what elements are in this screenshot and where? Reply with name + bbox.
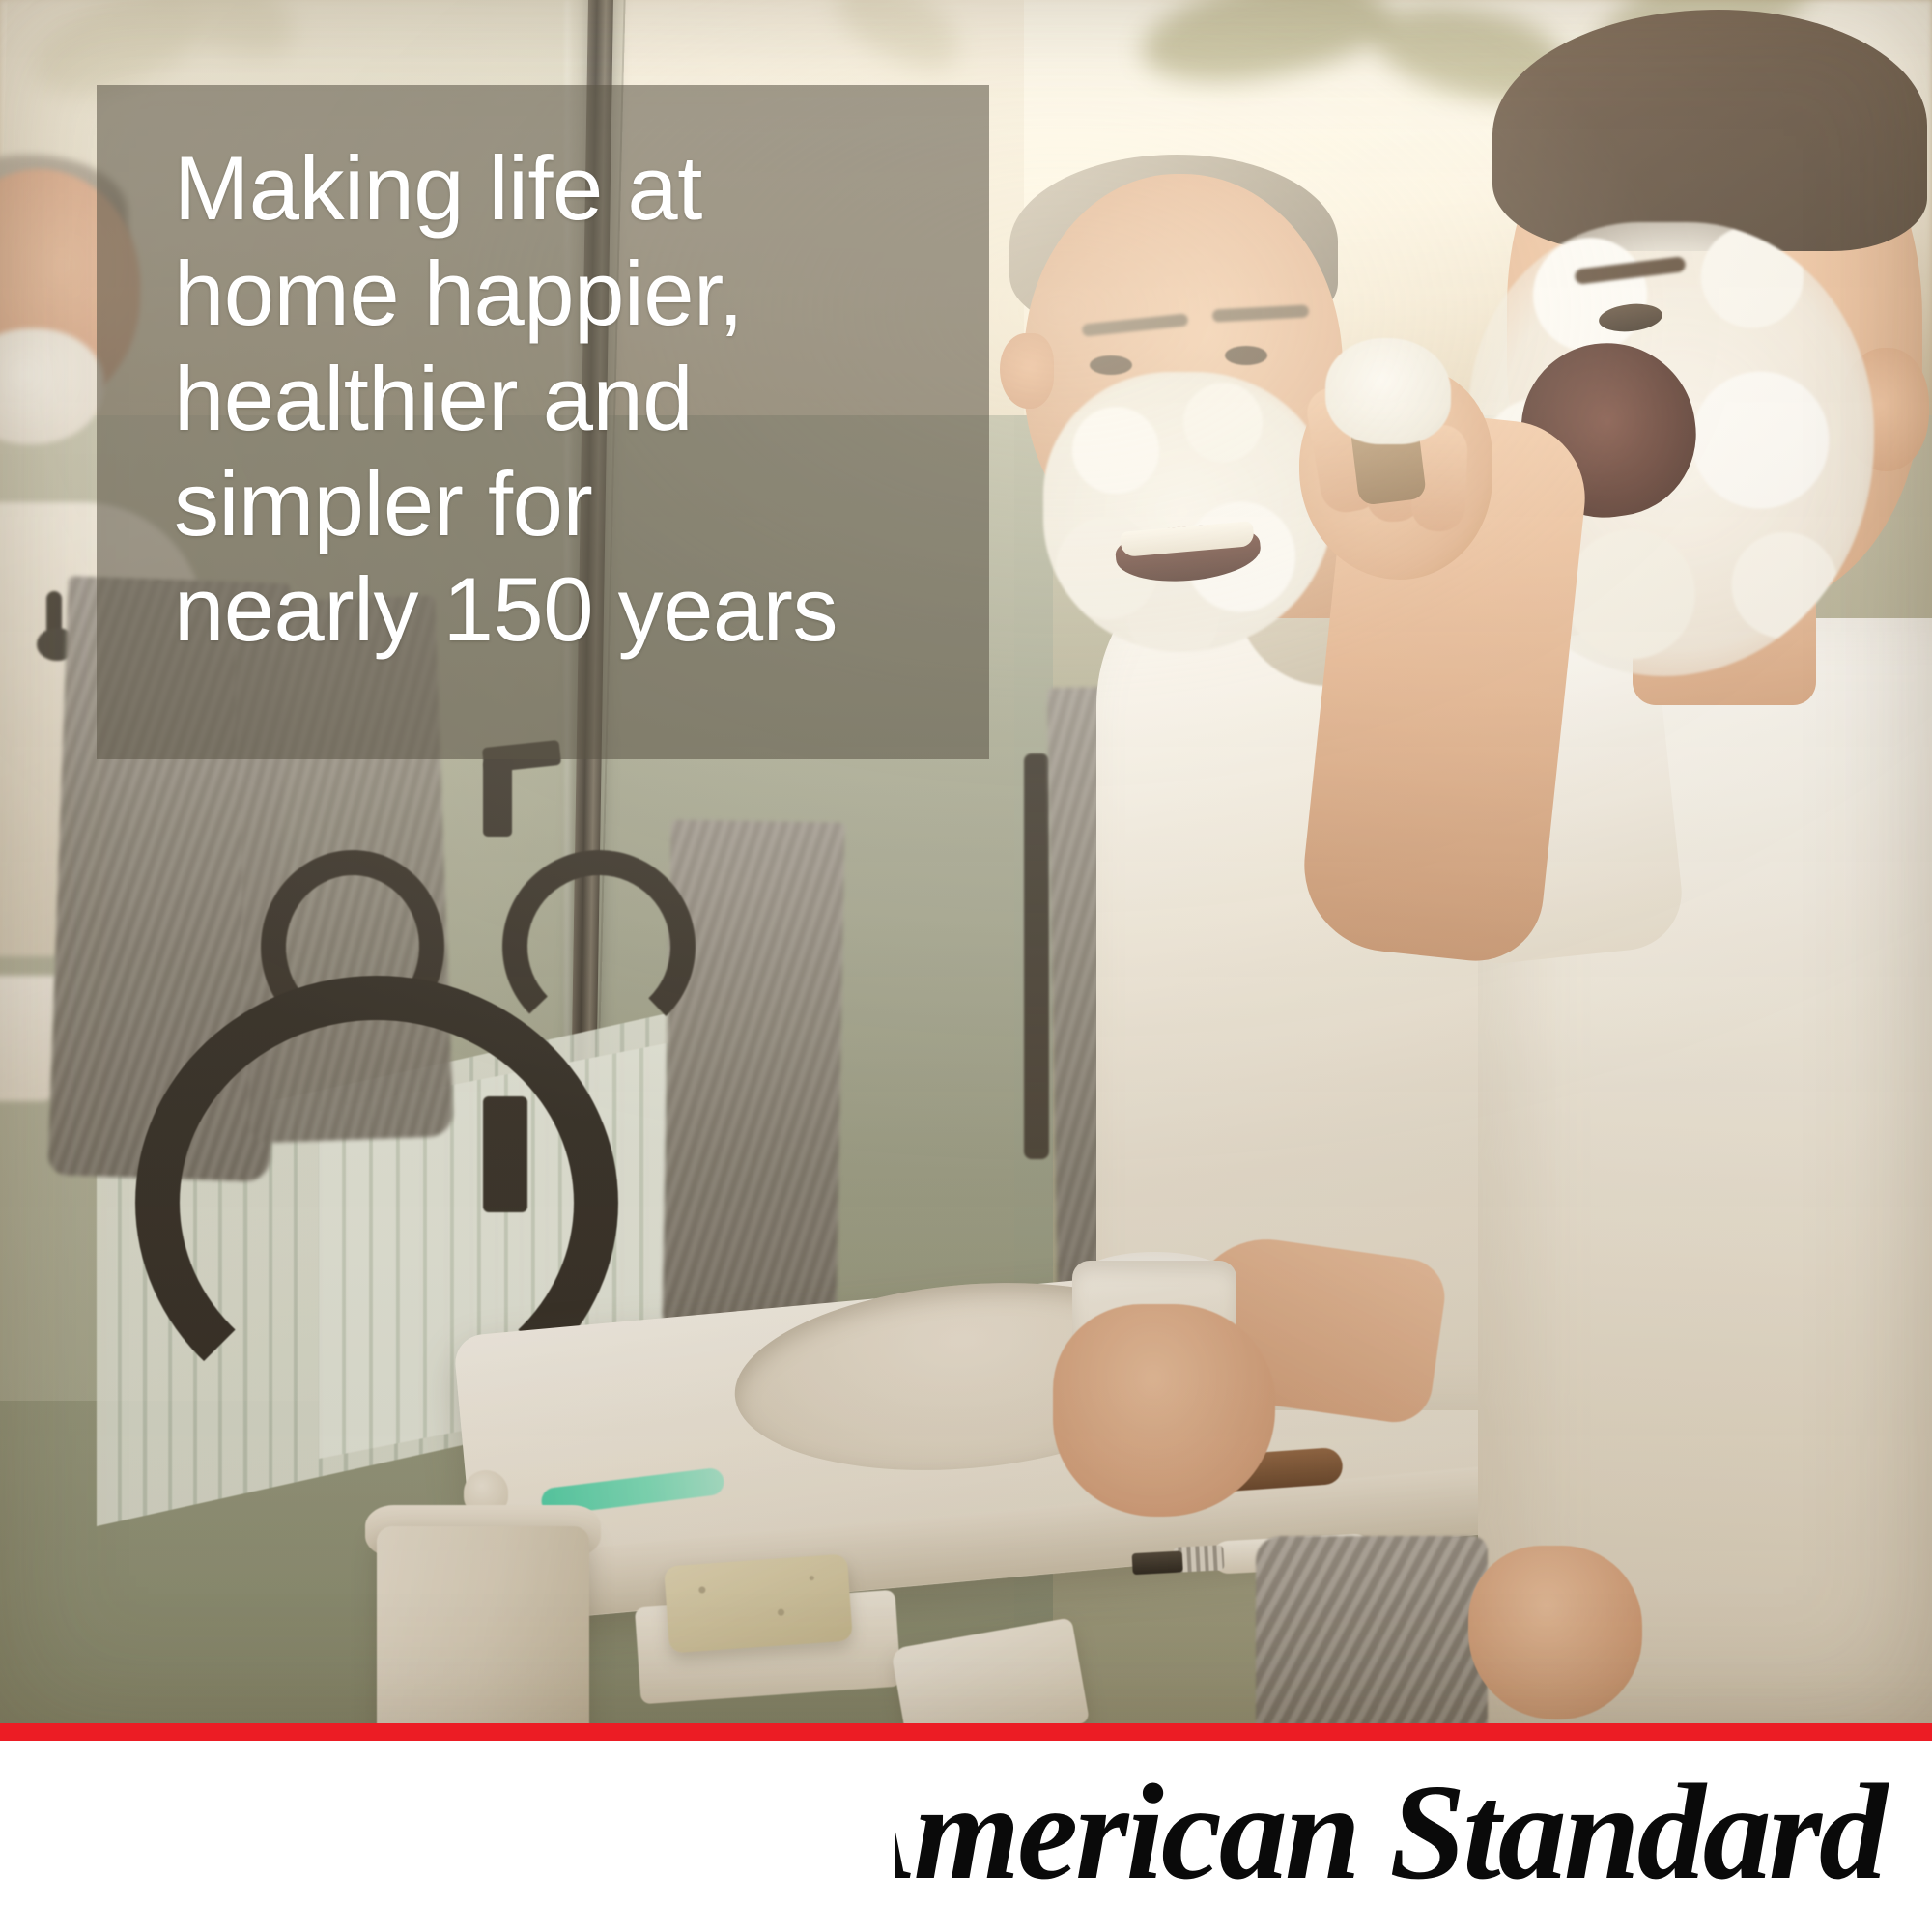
page-title: Making life at home happier, healthier a… bbox=[174, 135, 970, 662]
soap-bar bbox=[664, 1553, 853, 1653]
advertisement-root: Making life at home happier, healthier a… bbox=[0, 0, 1932, 1932]
grey-towel-folded bbox=[1256, 1536, 1488, 1723]
shaving-brush-foam bbox=[1325, 338, 1451, 444]
father-eye bbox=[1225, 346, 1267, 365]
hero-photo: Making life at home happier, healthier a… bbox=[0, 0, 1932, 1723]
wall-hook bbox=[46, 591, 62, 651]
hanging-towel-right bbox=[662, 819, 844, 1334]
son-lower-hand bbox=[1468, 1546, 1642, 1719]
razor-head bbox=[1132, 1550, 1183, 1575]
ceramic-canister bbox=[377, 1526, 589, 1723]
father-ear bbox=[1000, 333, 1054, 409]
father-eye bbox=[1090, 355, 1132, 375]
towel-bar bbox=[1024, 753, 1049, 1159]
brand-red-rule bbox=[0, 1723, 1932, 1741]
logo-wordmark: American Standard bbox=[895, 1764, 1889, 1908]
son-hair bbox=[1492, 10, 1927, 251]
father-hand bbox=[1053, 1304, 1275, 1517]
headline-overlay-panel: Making life at home happier, healthier a… bbox=[97, 85, 989, 759]
brand-footer: American Standard bbox=[0, 1741, 1932, 1932]
faucet-handle-knob bbox=[483, 759, 512, 837]
american-standard-logo: American Standard bbox=[895, 1764, 1889, 1909]
